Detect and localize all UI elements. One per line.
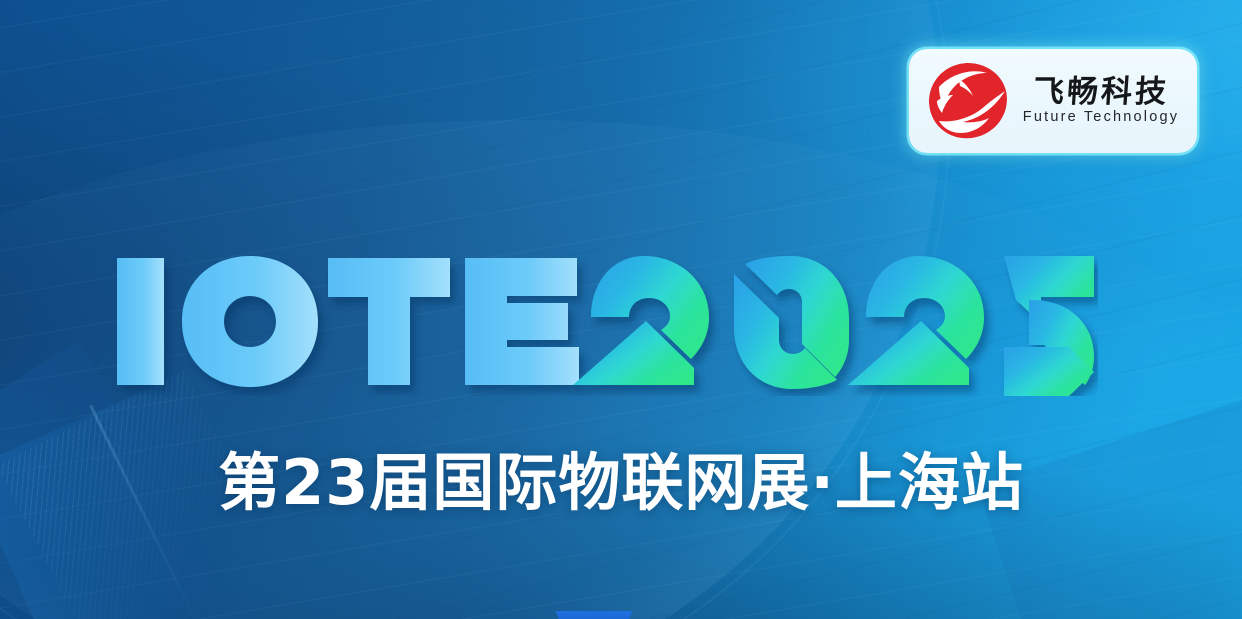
event-subtitle: 第23届国际物联网展·上海站 [0,452,1242,514]
company-name-en: Future Technology [1023,110,1179,126]
feichang-logo-icon [925,61,1011,141]
company-logo-text: 飞畅科技 Future Technology [1021,76,1183,126]
decor-bottom-tab [552,611,636,619]
wordmark-year-digits [573,256,1094,396]
wordmark-svg [113,244,1098,396]
iote-2025-banner: 飞畅科技 Future Technology [0,0,1242,619]
company-logo-card: 飞畅科技 Future Technology [909,49,1197,153]
company-name-cn: 飞畅科技 [1032,76,1170,109]
iote-2025-wordmark [113,244,1098,396]
wordmark-iote-letters [117,256,579,387]
